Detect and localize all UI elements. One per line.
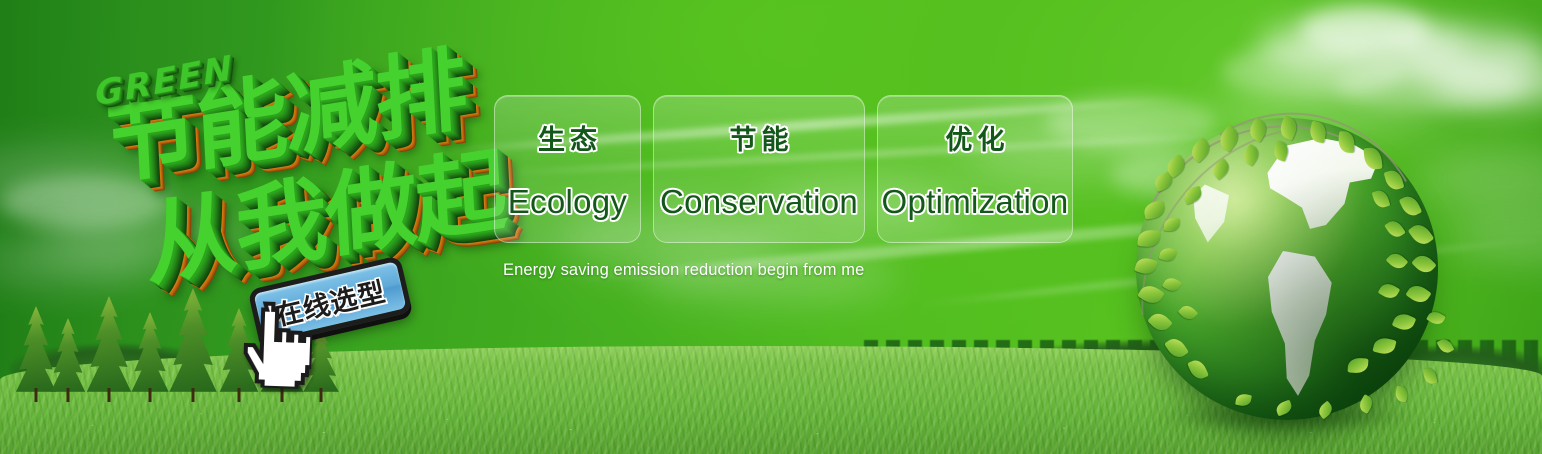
card-ecology-en: Ecology [508, 183, 628, 221]
card-conservation-cn: 节能 [725, 118, 794, 157]
card-conservation[interactable]: 节能 Conservation [653, 95, 865, 243]
feature-card-list: 生态 Ecology 节能 Conservation 优化 Optimizati… [494, 95, 1073, 243]
hero-title-3d: 节能减排 GREEN 从我做起 [94, 33, 498, 270]
pointing-hand-cursor-icon [238, 299, 313, 389]
banner-tagline: Energy saving emission reduction begin f… [503, 261, 864, 280]
leaf-covered-globe-icon [1136, 118, 1438, 420]
card-optimization[interactable]: 优化 Optimization [877, 95, 1073, 243]
card-conservation-en: Conservation [660, 183, 858, 221]
card-ecology-cn: 生态 [533, 118, 602, 157]
card-optimization-cn: 优化 [941, 118, 1010, 157]
card-optimization-en: Optimization [881, 183, 1068, 221]
green-energy-banner: 节能减排 GREEN 从我做起 在线选型 [0, 0, 1542, 454]
card-ecology[interactable]: 生态 Ecology [494, 95, 641, 243]
